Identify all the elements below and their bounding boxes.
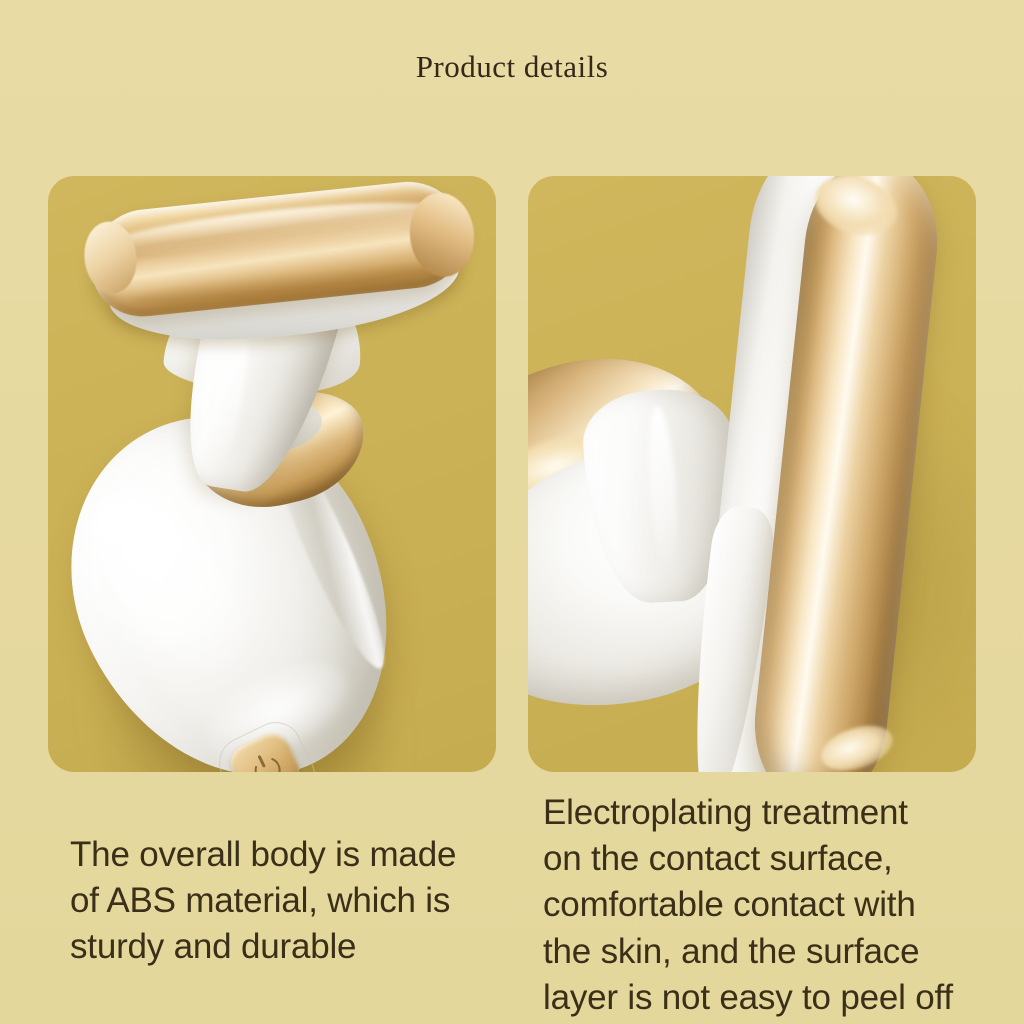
power-icon xyxy=(246,748,283,772)
caption-electroplating: Electroplating treatment on the contact … xyxy=(543,790,1013,1021)
product-photo-full-device xyxy=(48,176,496,772)
page-title: Product details xyxy=(0,50,1024,84)
product-photo-contact-surface-closeup xyxy=(528,176,976,772)
device-illustration-closeup xyxy=(528,176,976,772)
device-illustration-full xyxy=(48,176,496,772)
device-head-assembly xyxy=(77,176,481,358)
product-details-page: Product details xyxy=(0,0,1024,1024)
caption-material: The overall body is made of ABS material… xyxy=(70,832,510,971)
